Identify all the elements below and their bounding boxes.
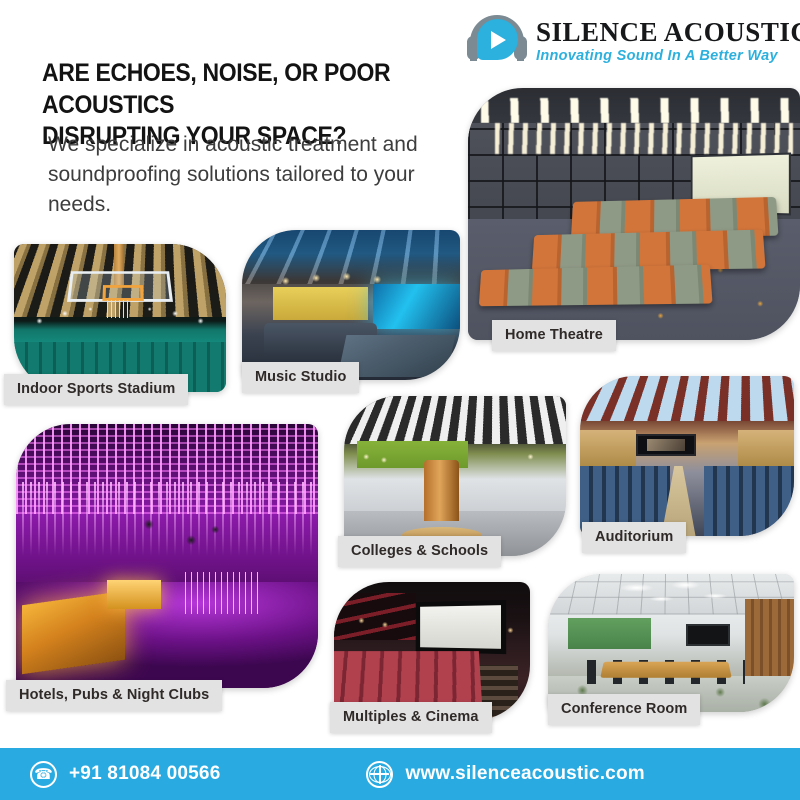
ceiling-spotlights-detail (242, 230, 460, 380)
headline-line-1: ARE ECHOES, NOISE, OR POOR ACOUSTICS (42, 58, 410, 121)
wood-wall-detail (745, 599, 794, 679)
stage-screen-detail (636, 434, 696, 456)
gallery-caption-indoor-sports-stadium: Indoor Sports Stadium (4, 374, 188, 405)
gallery-card-multiples-cinema (334, 582, 530, 720)
ceiling-spotlights-detail (344, 396, 566, 556)
wall-lights-detail (334, 582, 530, 720)
brand-name: SILENCE ACOUSTIC (536, 18, 800, 46)
footer-website-url: www.silenceacoustic.com (405, 763, 644, 785)
gallery-caption-conference-room: Conference Room (548, 694, 700, 725)
brand-tagline: Innovating Sound In A Better Way (536, 48, 800, 64)
skylight-ceiling-detail (580, 376, 794, 421)
gallery-caption-auditorium: Auditorium (582, 522, 686, 553)
footer-website-block[interactable]: www.silenceacoustic.com (366, 761, 644, 788)
wall-display-detail (686, 624, 730, 646)
globe-icon (366, 761, 393, 788)
gallery-card-home-theatre (468, 88, 800, 340)
gallery-caption-home-theatre: Home Theatre (492, 320, 616, 351)
gallery-caption-music-studio: Music Studio (242, 362, 359, 393)
gallery-card-colleges-schools (344, 396, 566, 556)
headphone-speech-bubble-play-icon (466, 10, 528, 72)
photo-colleges-schools (344, 396, 566, 556)
ceiling-lights-detail (481, 98, 793, 123)
string-lights-detail (495, 123, 794, 153)
seat-row-detail (479, 264, 713, 305)
photo-multiples-cinema (334, 582, 530, 720)
gallery-caption-hotels-pubs-night-clubs: Hotels, Pubs & Night Clubs (6, 680, 222, 711)
photo-hotels-pubs-night-clubs (16, 424, 318, 688)
brand-logo: SILENCE ACOUSTIC ® Innovating Sound In A… (466, 8, 792, 74)
seat-row-detail (532, 229, 766, 270)
gallery-caption-multiples-cinema: Multiples & Cinema (330, 702, 492, 733)
stage-lamps-detail (16, 424, 318, 688)
green-acoustic-wall-detail (568, 618, 652, 648)
subheadline: We specialize in acoustic treatment and … (48, 130, 418, 219)
gallery-card-indoor-sports-stadium (14, 244, 226, 392)
photo-conference-room (548, 574, 794, 712)
photo-home-theatre (468, 88, 800, 340)
conference-table-detail (600, 662, 732, 678)
photo-music-studio (242, 230, 460, 380)
phone-icon: ☎ (30, 761, 57, 788)
gallery-caption-colleges-schools: Colleges & Schools (338, 536, 501, 567)
gallery-card-hotels-pubs-night-clubs (16, 424, 318, 688)
contact-footer-bar: ☎ +91 81084 00566 www.silenceacoustic.co… (0, 748, 800, 800)
brand-text-lockup: SILENCE ACOUSTIC ® Innovating Sound In A… (536, 18, 800, 64)
gallery-card-music-studio (242, 230, 460, 380)
gallery-card-auditorium (580, 376, 794, 536)
photo-indoor-sports-stadium (14, 244, 226, 392)
play-triangle-icon (491, 31, 506, 49)
photo-auditorium (580, 376, 794, 536)
ceiling-spotlights-detail (14, 244, 226, 392)
footer-phone-block[interactable]: ☎ +91 81084 00566 (30, 761, 220, 788)
gallery-card-conference-room (548, 574, 794, 712)
seating-block-detail (704, 466, 794, 536)
footer-phone-number: +91 81084 00566 (69, 763, 220, 785)
poster-canvas: SILENCE ACOUSTIC ® Innovating Sound In A… (0, 0, 800, 800)
